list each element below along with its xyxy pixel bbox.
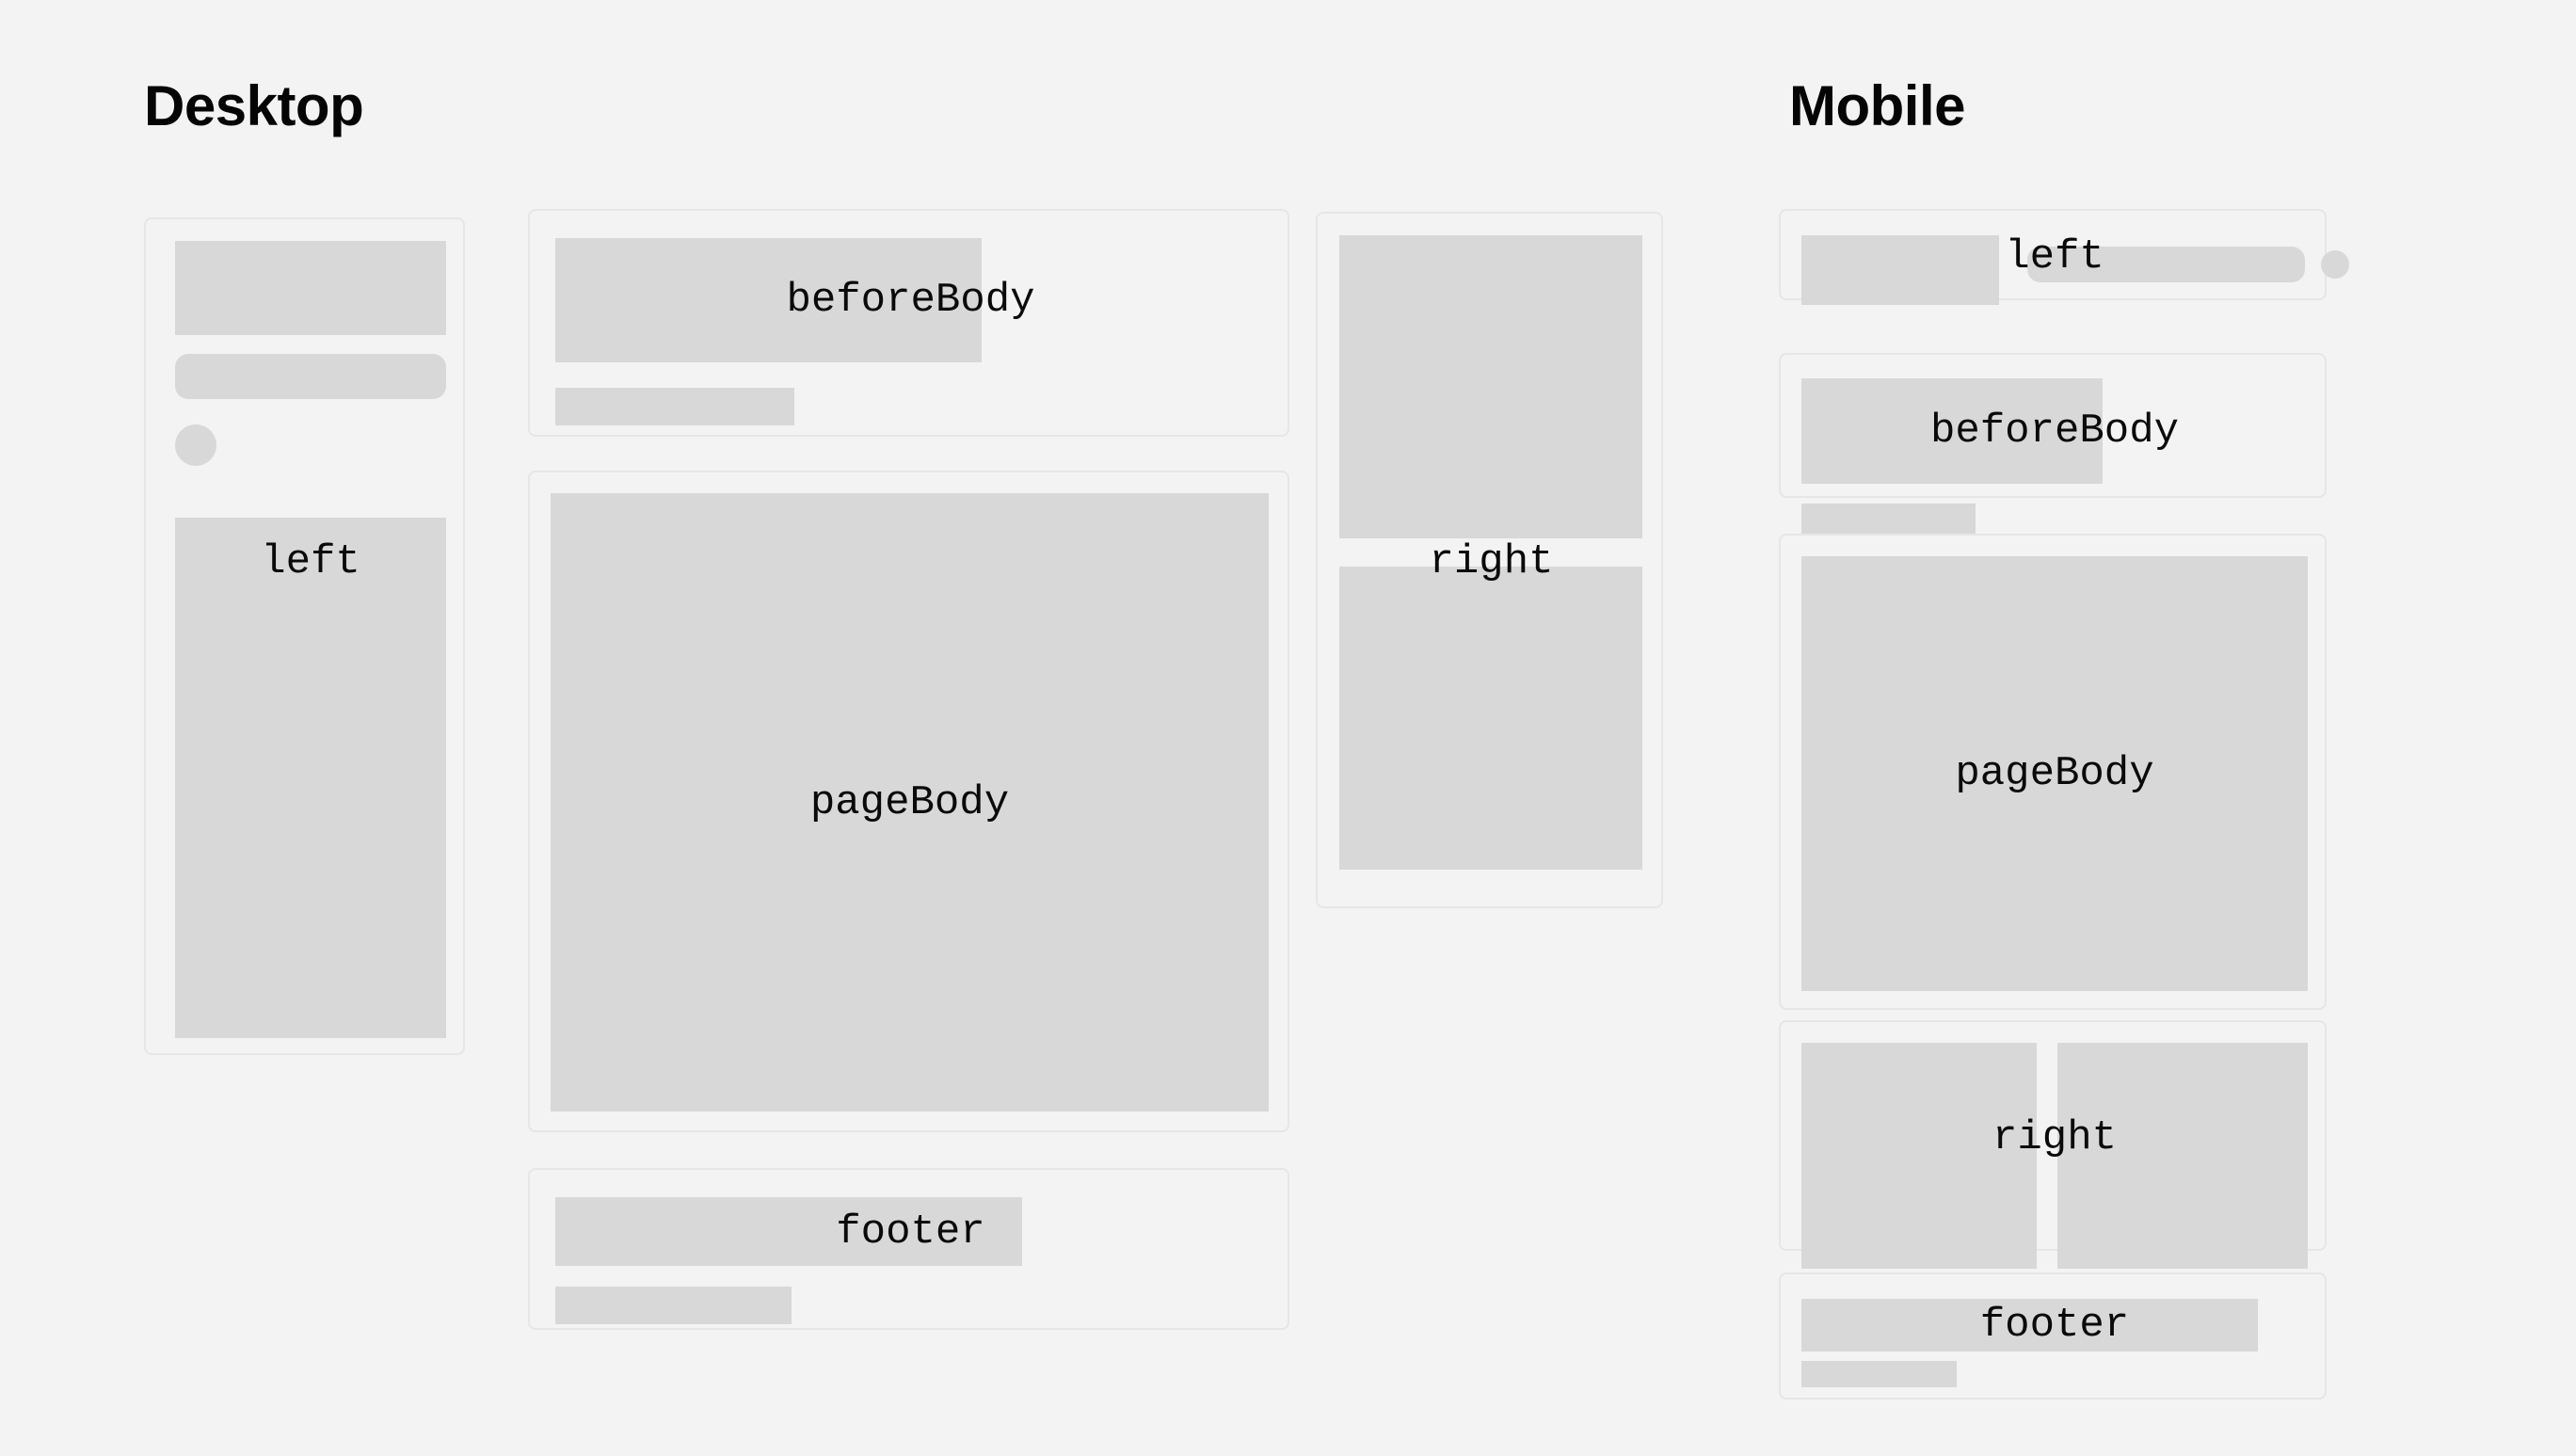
desktop-beforebody-slot-card[interactable]: beforeBody xyxy=(528,209,1289,437)
mobile-beforebody-block-strip xyxy=(1801,504,1976,537)
mobile-pagebody-slot-card[interactable]: pageBody xyxy=(1779,534,2327,1010)
desktop-footer-slot-card[interactable]: footer xyxy=(528,1168,1289,1330)
mobile-right-block-col-right xyxy=(2057,1043,2308,1269)
desktop-right-block-bottom xyxy=(1339,567,1642,870)
desktop-pagebody-slot-card[interactable]: pageBody xyxy=(528,471,1289,1132)
mobile-beforebody-slot-card[interactable]: beforeBody xyxy=(1779,353,2327,498)
section-heading-desktop: Desktop xyxy=(144,78,363,135)
mobile-left-slot-card[interactable]: left xyxy=(1779,209,2327,300)
desktop-left-block-pill xyxy=(175,354,446,399)
desktop-left-block-panel xyxy=(175,518,446,1038)
desktop-left-block-tall-header xyxy=(175,241,446,335)
mobile-left-block-dot xyxy=(2321,250,2349,279)
desktop-footer-block-wide xyxy=(555,1197,1022,1266)
mobile-pagebody-block-main xyxy=(1801,556,2308,991)
desktop-beforebody-block-hero xyxy=(555,238,982,362)
desktop-right-slot-card[interactable]: right xyxy=(1316,212,1663,908)
desktop-left-slot-card[interactable]: left xyxy=(144,217,465,1055)
desktop-left-block-avatar-dot xyxy=(175,424,216,466)
mobile-footer-block-wide xyxy=(1801,1299,2258,1352)
mobile-left-block-thumb xyxy=(1801,235,1999,305)
desktop-right-block-top xyxy=(1339,235,1642,538)
section-heading-mobile: Mobile xyxy=(1789,78,1965,135)
desktop-footer-block-strip xyxy=(555,1287,792,1324)
desktop-beforebody-block-strip xyxy=(555,388,794,425)
mobile-right-slot-card[interactable]: right xyxy=(1779,1020,2327,1251)
mobile-left-block-pill xyxy=(2027,247,2305,282)
mobile-beforebody-block-hero xyxy=(1801,378,2103,484)
desktop-pagebody-block-main xyxy=(551,493,1269,1112)
mobile-footer-slot-card[interactable]: footer xyxy=(1779,1272,2327,1400)
layout-preview-stage: Desktop left beforeBody pageBody right f… xyxy=(0,0,2576,1456)
mobile-right-block-col-left xyxy=(1801,1043,2037,1269)
mobile-footer-block-strip xyxy=(1801,1361,1957,1387)
